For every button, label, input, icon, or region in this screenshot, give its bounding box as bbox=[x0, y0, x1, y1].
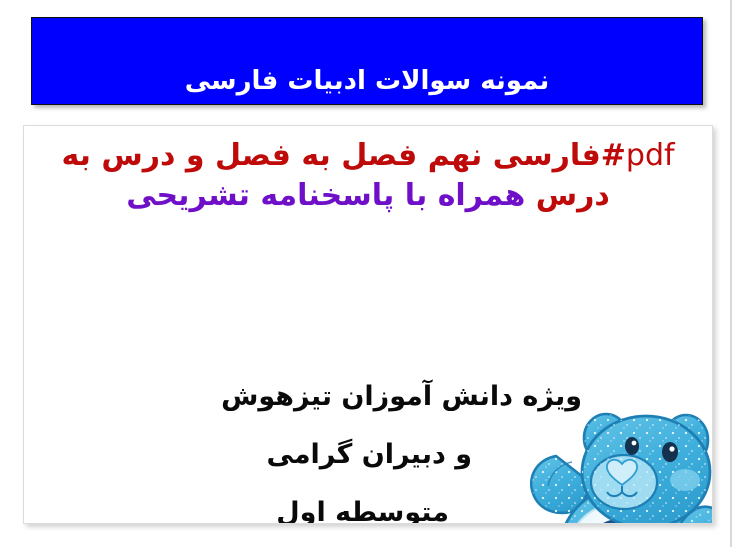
page-edge-rule bbox=[730, 0, 732, 547]
title-banner: نمونه سوالات ادبیات فارسی bbox=[31, 17, 703, 105]
bear-group bbox=[527, 414, 713, 524]
headline-line2-purple: همراه با پاسخنامه تشریحی bbox=[126, 178, 525, 213]
headline-line-1: pdf#فارسی نهم فصل به فصل و درس به bbox=[32, 136, 704, 176]
info-line-teachers: و دبیران گرامی bbox=[267, 439, 472, 470]
content-card: pdf#فارسی نهم فصل به فصل و درس به درس هم… bbox=[23, 125, 713, 524]
headline-line2-red: درس bbox=[536, 178, 610, 213]
page-title: نمونه سوالات ادبیات فارسی bbox=[185, 67, 550, 104]
headline-line1-red: #فارسی نهم فصل به فصل و درس به bbox=[61, 138, 625, 173]
info-line-gifted-students: ویژه دانش آموزان تیزهوش bbox=[221, 381, 582, 412]
info-line-school-level: متوسطه اول bbox=[276, 497, 449, 524]
bear-head bbox=[582, 414, 710, 524]
blue-care-bear-image bbox=[514, 404, 713, 524]
headline-block: pdf#فارسی نهم فصل به فصل و درس به درس هم… bbox=[32, 136, 704, 216]
headline-line-2: درس همراه با پاسخنامه تشریحی bbox=[32, 176, 704, 216]
headline-pdf-tag: pdf bbox=[626, 138, 675, 173]
slide-canvas: نمونه سوالات ادبیات فارسی pdf#فارسی نهم … bbox=[0, 0, 735, 547]
